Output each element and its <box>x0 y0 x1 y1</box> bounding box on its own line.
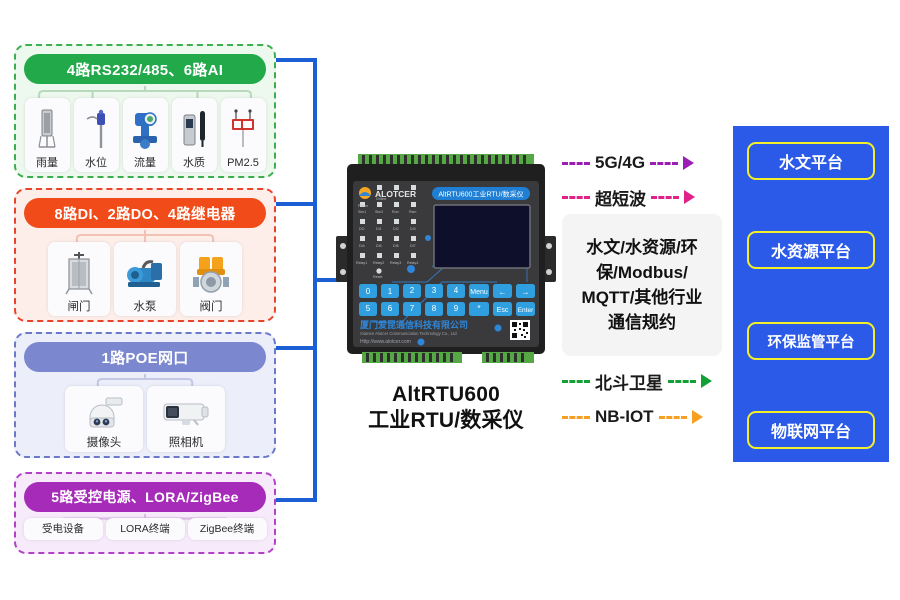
item-label: 摄像头 <box>87 436 122 450</box>
protocol-label: 北斗卫星 <box>595 369 663 394</box>
item-card[interactable]: 水质 <box>172 98 217 172</box>
topology-diagram: 4路RS232/485、6路AI <box>0 0 900 600</box>
water-quality-probe-icon <box>174 101 215 156</box>
svg-text:6: 6 <box>388 304 393 313</box>
rain-gauge-icon <box>27 101 68 156</box>
svg-text:厦门爱昆通信科技有限公司: 厦门爱昆通信科技有限公司 <box>360 319 468 330</box>
svg-text:Online: Online <box>376 197 386 201</box>
item-card[interactable]: ZigBee终端 <box>188 518 267 540</box>
protocol-label: 5G/4G <box>595 153 645 173</box>
device-caption: AltRTU600 工业RTU/数采仪 <box>330 382 562 434</box>
item-card[interactable]: 水泵 <box>114 242 176 316</box>
svg-text:AltRTU600工业RTU/数采仪: AltRTU600工业RTU/数采仪 <box>438 190 523 199</box>
item-card[interactable]: 受电设备 <box>24 518 103 540</box>
item-label: 阀门 <box>200 300 223 314</box>
platform-hydrology[interactable]: 水文平台 <box>747 142 875 180</box>
item-card[interactable]: 阀门 <box>180 242 242 316</box>
protocol-label: 超短波 <box>595 185 646 210</box>
svg-text:Sim1: Sim1 <box>358 210 366 214</box>
item-card[interactable]: 照相机 <box>147 386 225 452</box>
svg-text:8: 8 <box>432 304 437 313</box>
svg-text:DI4: DI4 <box>359 244 365 248</box>
item-label: 雨量 <box>36 156 58 170</box>
platform-iot[interactable]: 物联网平台 <box>747 411 875 449</box>
svg-text:DI6: DI6 <box>393 244 399 248</box>
svg-text:0: 0 <box>366 287 371 296</box>
svg-text:DI2: DI2 <box>393 227 399 231</box>
svg-text:Relay4: Relay4 <box>407 261 418 265</box>
svg-text:Power: Power <box>358 204 369 208</box>
svg-text:4: 4 <box>454 286 459 295</box>
platform-panel: 水文平台 水资源平台 环保监管平台 物联网平台 <box>733 126 889 462</box>
svg-text:1: 1 <box>388 287 393 296</box>
protocol-standards-text: 水文/水资源/环 保/Modbus/ MQTT/其他行业 通信规约 <box>582 235 703 335</box>
svg-text:Menu: Menu <box>470 289 488 296</box>
platform-water-resources[interactable]: 水资源平台 <box>747 231 875 269</box>
terminal-block-bottom <box>362 352 534 363</box>
protocol-line: 水文/水资源/环 <box>582 235 703 260</box>
svg-text:Run: Run <box>392 210 399 214</box>
svg-text:Rsm: Rsm <box>409 210 416 214</box>
group-di-do-relay: 8路DI、2路DO、4路继电器 <box>14 188 276 322</box>
svg-text:DI7: DI7 <box>410 244 416 248</box>
arrow-head-icon <box>701 374 712 388</box>
svg-text:DO: DO <box>359 227 365 231</box>
item-label: 水质 <box>183 156 205 170</box>
item-card[interactable]: 雨量 <box>25 98 70 172</box>
protocol-arrow-beidou: 北斗卫星 <box>562 370 712 392</box>
svg-text:Relay2: Relay2 <box>373 261 384 265</box>
svg-text:7: 7 <box>410 304 415 313</box>
device-type: 工业RTU/数采仪 <box>330 408 562 434</box>
item-card[interactable]: 闸门 <box>48 242 110 316</box>
group-power-lora-zigbee: 5路受控电源、LORA/ZigBee 受电设备 LORA终端 ZigBee终端 <box>14 472 276 554</box>
platform-environmental-supervision[interactable]: 环保监管平台 <box>747 322 875 360</box>
svg-text:Http://www.alotcer.com: Http://www.alotcer.com <box>360 339 411 345</box>
svg-text:Relay3: Relay3 <box>390 261 401 265</box>
group-items-poe: 摄像头 照相机 <box>16 386 274 452</box>
group-items-power-lora-zigbee: 受电设备 LORA终端 ZigBee终端 <box>16 518 274 540</box>
dashed-line <box>659 416 687 419</box>
dashed-line <box>651 196 679 199</box>
brand-logo: ALOTCER <box>359 187 416 199</box>
item-label: LORA终端 <box>120 522 170 536</box>
arrow-head-icon <box>683 156 694 170</box>
item-label: 受电设备 <box>42 522 84 536</box>
item-label: 水泵 <box>134 300 157 314</box>
svg-text:Enter: Enter <box>518 307 534 314</box>
item-card[interactable]: 水位 <box>74 98 119 172</box>
water-pump-icon <box>116 245 174 300</box>
svg-text:5: 5 <box>366 304 371 313</box>
arrow-head-icon <box>692 410 703 424</box>
protocol-standards-box: 水文/水资源/环 保/Modbus/ MQTT/其他行业 通信规约 <box>562 214 722 356</box>
dashed-line <box>562 380 590 383</box>
svg-text:→: → <box>522 288 530 297</box>
item-label: 水位 <box>85 156 107 170</box>
sluice-gate-icon <box>50 245 108 300</box>
group-rs232-ai: 4路RS232/485、6路AI <box>14 44 276 178</box>
dashed-line <box>650 162 678 165</box>
item-label: 流量 <box>134 156 156 170</box>
terminal-block-top <box>358 154 534 165</box>
group-header-power-lora-zigbee[interactable]: 5路受控电源、LORA/ZigBee <box>24 482 266 512</box>
rtu-device[interactable]: ALOTCER AltRTU600工业RTU/数采仪 Sim <box>332 152 560 367</box>
protocol-line: MQTT/其他行业 <box>582 285 703 310</box>
protocol-arrow-ultrashortwave: 超短波 <box>562 186 695 208</box>
svg-text:2: 2 <box>410 286 415 295</box>
item-label: 照相机 <box>169 436 204 450</box>
item-label: PM2.5 <box>227 156 259 170</box>
group-poe: 1路POE网口 <box>14 332 276 458</box>
bullet-camera-icon <box>149 389 223 436</box>
svg-text:DI3: DI3 <box>410 227 416 231</box>
arrow-head-icon <box>684 190 695 204</box>
protocol-line: 保/Modbus/ <box>582 260 703 285</box>
group-header-di-do-relay[interactable]: 8路DI、2路DO、4路继电器 <box>24 198 266 228</box>
svg-text:Esc: Esc <box>497 307 509 314</box>
group-header-poe[interactable]: 1路POE网口 <box>24 342 266 372</box>
group-items-rs232-ai: 雨量 水位 <box>16 98 274 172</box>
item-label: 闸门 <box>68 300 91 314</box>
svg-text:Reset: Reset <box>373 275 382 279</box>
item-label: ZigBee终端 <box>200 522 254 536</box>
item-card[interactable]: 摄像头 <box>65 386 143 452</box>
item-card[interactable]: LORA终端 <box>106 518 185 540</box>
group-header-rs232-ai[interactable]: 4路RS232/485、6路AI <box>24 54 266 84</box>
dashed-line <box>562 416 590 419</box>
pm25-sensor-icon <box>223 101 264 156</box>
device-model: AltRTU600 <box>330 382 562 408</box>
flow-meter-icon <box>125 101 166 156</box>
svg-text:DI1: DI1 <box>376 227 382 231</box>
item-card[interactable]: 流量 <box>123 98 168 172</box>
svg-text:←: ← <box>499 288 507 297</box>
protocol-label: NB-IOT <box>595 407 654 427</box>
protocol-arrow-5g4g: 5G/4G <box>562 152 694 174</box>
svg-text:9: 9 <box>454 304 459 313</box>
group-items-di-do-relay: 闸门 水泵 <box>16 242 274 316</box>
protocol-arrow-nbiot: NB-IOT <box>562 406 703 428</box>
svg-text:3: 3 <box>432 286 437 295</box>
ptz-camera-icon <box>67 389 141 436</box>
svg-text:Relay1: Relay1 <box>356 261 367 265</box>
valve-icon <box>182 245 240 300</box>
svg-text:Sim2: Sim2 <box>375 210 383 214</box>
dashed-line <box>668 380 696 383</box>
protocol-line: 通信规约 <box>582 310 703 335</box>
water-level-sensor-icon <box>76 101 117 156</box>
svg-text:*: * <box>477 304 480 313</box>
svg-text:DI5: DI5 <box>376 244 382 248</box>
dashed-line <box>562 196 590 199</box>
dashed-line <box>562 162 590 165</box>
item-card[interactable]: PM2.5 <box>221 98 266 172</box>
svg-text:Xiamen Alotcer Communication T: Xiamen Alotcer Communication Technology … <box>360 331 457 336</box>
